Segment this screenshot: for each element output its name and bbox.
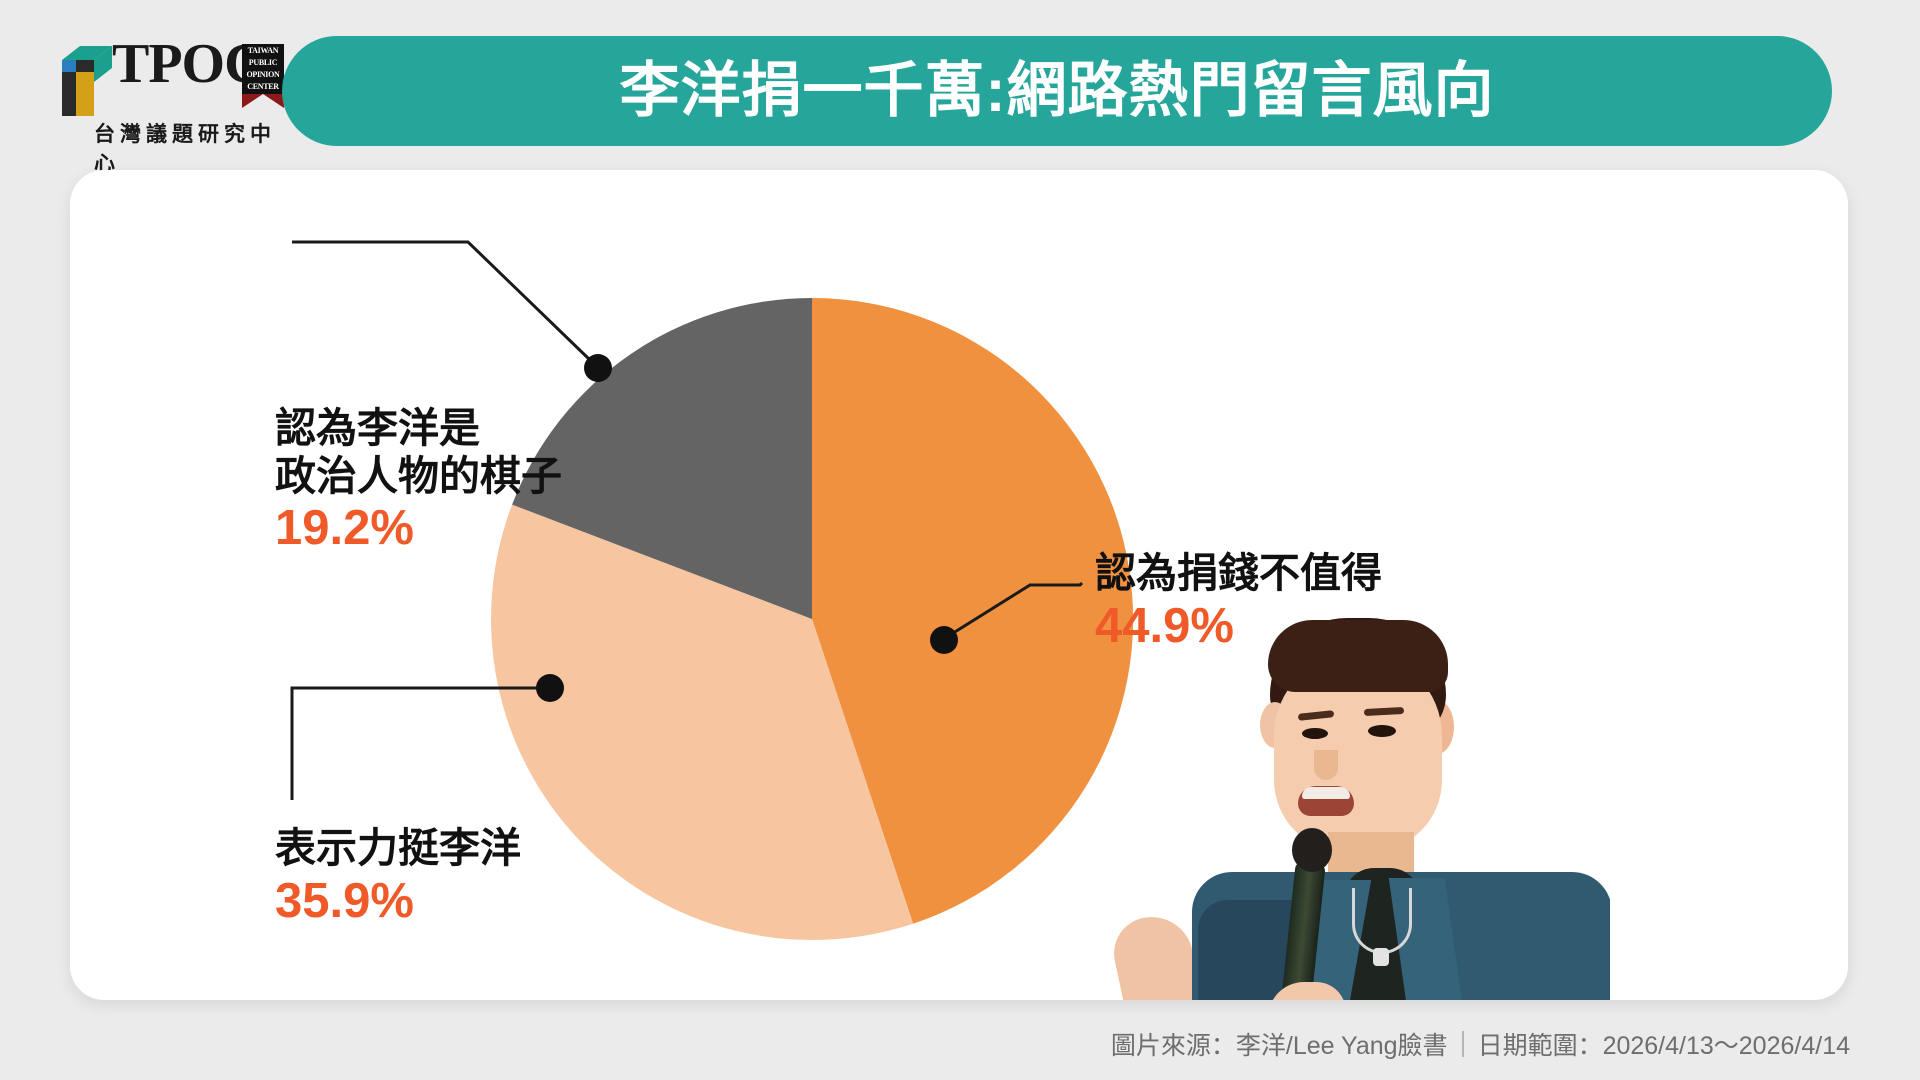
logo-badge-line-2: PUBLIC <box>249 59 277 67</box>
photo-nose <box>1314 750 1338 780</box>
photo-pendant <box>1373 948 1389 966</box>
logo-badge-tail <box>242 94 284 108</box>
logo-subtitle: 台灣議題研究中心 <box>94 118 276 178</box>
photo-right-eye <box>1368 725 1396 737</box>
callout-slice-1-label: 表示力挺李洋 <box>275 825 521 873</box>
person-photo <box>1070 600 1610 1000</box>
logo-badge: TAIWAN PUBLIC OPINION CENTER <box>242 44 284 94</box>
chart-card: 認為捐錢不值得 44.9% 表示力挺李洋 35.9% 認為李洋是 政治人物的棋子… <box>70 170 1848 1000</box>
callout-slice-0-label: 認為捐錢不值得 <box>1095 550 1382 598</box>
callout-slice-2-value: 19.2% <box>275 502 562 556</box>
callout-slice-2-label-line-1: 認為李洋是 <box>275 405 562 453</box>
callout-slice-2: 認為李洋是 政治人物的棋子 19.2% <box>275 405 562 556</box>
photo-microphone-head <box>1292 828 1332 872</box>
logo-badge-line-3: OPINION <box>246 71 279 79</box>
logo-wordmark: TPOC <box>112 36 264 92</box>
photo-teeth <box>1302 787 1350 799</box>
logo-mark-icon <box>54 38 114 116</box>
callout-slice-1: 表示力挺李洋 35.9% <box>275 825 521 928</box>
header: TPOC TAIWAN PUBLIC OPINION CENTER 台灣議題研究… <box>0 0 1920 180</box>
footer-divider <box>1462 1031 1464 1057</box>
logo-badge-line-1: TAIWAN <box>248 47 279 55</box>
tpoc-logo: TPOC TAIWAN PUBLIC OPINION CENTER 台灣議題研究… <box>46 30 276 155</box>
photo-left-eye <box>1302 728 1328 739</box>
leader-slice-2 <box>292 242 612 382</box>
logo-badge-line-4: CENTER <box>247 83 279 91</box>
footer-source: 圖片來源：李洋/Lee Yang臉書 <box>1111 1026 1448 1062</box>
photo-hair-front <box>1268 620 1448 692</box>
photo-necklace <box>1352 888 1412 954</box>
footer: 圖片來源：李洋/Lee Yang臉書 日期範圍：2026/4/13～2026/4… <box>1111 1026 1850 1062</box>
page-title: 李洋捐一千萬:網路熱門留言風向 <box>620 61 1495 121</box>
footer-date-range: 日期範圍：2026/4/13～2026/4/14 <box>1478 1026 1850 1062</box>
title-banner: 李洋捐一千萬:網路熱門留言風向 <box>282 36 1832 146</box>
callout-slice-2-label-line-2: 政治人物的棋子 <box>275 453 562 501</box>
callout-slice-1-value: 35.9% <box>275 875 521 929</box>
